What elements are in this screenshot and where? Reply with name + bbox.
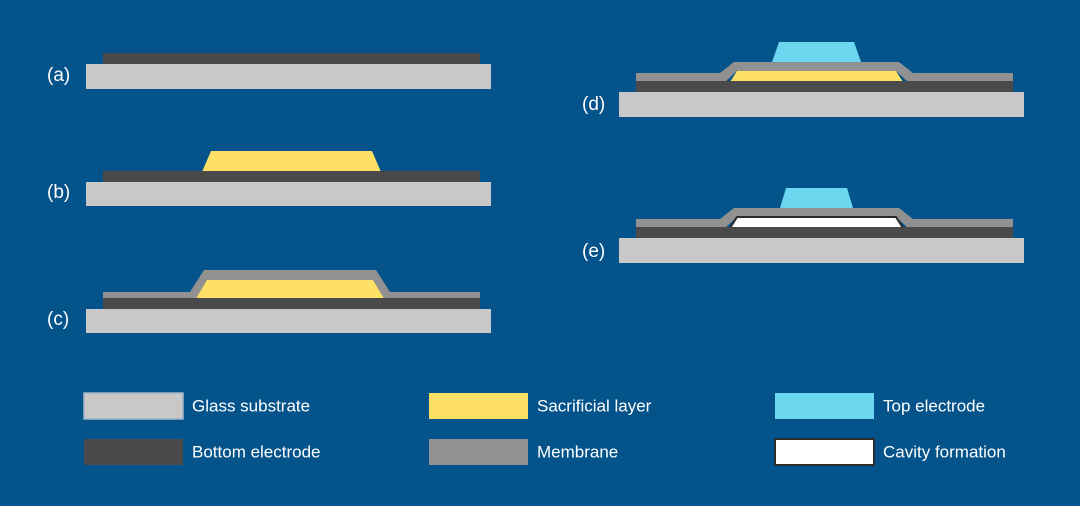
panel-e-glass-substrate	[619, 238, 1024, 263]
legend-label-cavity-formation: Cavity formation	[883, 442, 1006, 461]
panel-c-glass-substrate	[86, 309, 491, 333]
legend-item-glass-substrate: Glass substrate	[84, 393, 310, 419]
panel-a: (a)	[47, 53, 491, 89]
panel-a-glass-substrate	[86, 64, 491, 89]
panel-e-bottom-electrode	[636, 227, 1013, 238]
legend-swatch-sacrificial-layer	[429, 393, 528, 419]
panel-d-bottom-electrode	[636, 81, 1013, 92]
legend-item-cavity-formation: Cavity formation	[775, 439, 1006, 465]
legend-swatch-glass-substrate	[84, 393, 183, 419]
panel-d-glass-substrate	[619, 92, 1024, 117]
panel-e-top-electrode	[780, 188, 853, 208]
panel-b-sacrificial-layer	[202, 151, 381, 172]
legend-label-bottom-electrode: Bottom electrode	[192, 442, 321, 461]
legend-swatch-bottom-electrode	[84, 439, 183, 465]
panel-d-label: (d)	[582, 94, 605, 115]
panel-b-glass-substrate	[86, 182, 491, 206]
panel-b-label: (b)	[47, 182, 70, 203]
legend-swatch-membrane	[429, 439, 528, 465]
panel-b-bottom-electrode	[103, 171, 480, 182]
legend-label-membrane: Membrane	[537, 442, 618, 461]
legend-item-bottom-electrode: Bottom electrode	[84, 439, 321, 465]
legend-label-sacrificial-layer: Sacrificial layer	[537, 396, 652, 415]
legend-label-top-electrode: Top electrode	[883, 396, 985, 415]
panel-d-top-electrode	[772, 42, 861, 62]
panel-c-bottom-electrode	[103, 298, 480, 309]
panel-a-bottom-electrode	[103, 53, 480, 64]
panel-c-sacrificial-layer	[195, 280, 385, 300]
panel-e-label: (e)	[582, 241, 605, 262]
fabrication-process-diagram: (a) (b) (c) (d) (e)	[0, 0, 1080, 506]
legend-item-membrane: Membrane	[429, 439, 618, 465]
legend-label-glass-substrate: Glass substrate	[192, 396, 310, 415]
legend-item-sacrificial-layer: Sacrificial layer	[429, 393, 652, 419]
panel-c-label: (c)	[47, 309, 69, 330]
legend-swatch-cavity-formation	[775, 439, 874, 465]
panel-a-label: (a)	[47, 65, 70, 86]
legend-swatch-top-electrode	[775, 393, 874, 419]
